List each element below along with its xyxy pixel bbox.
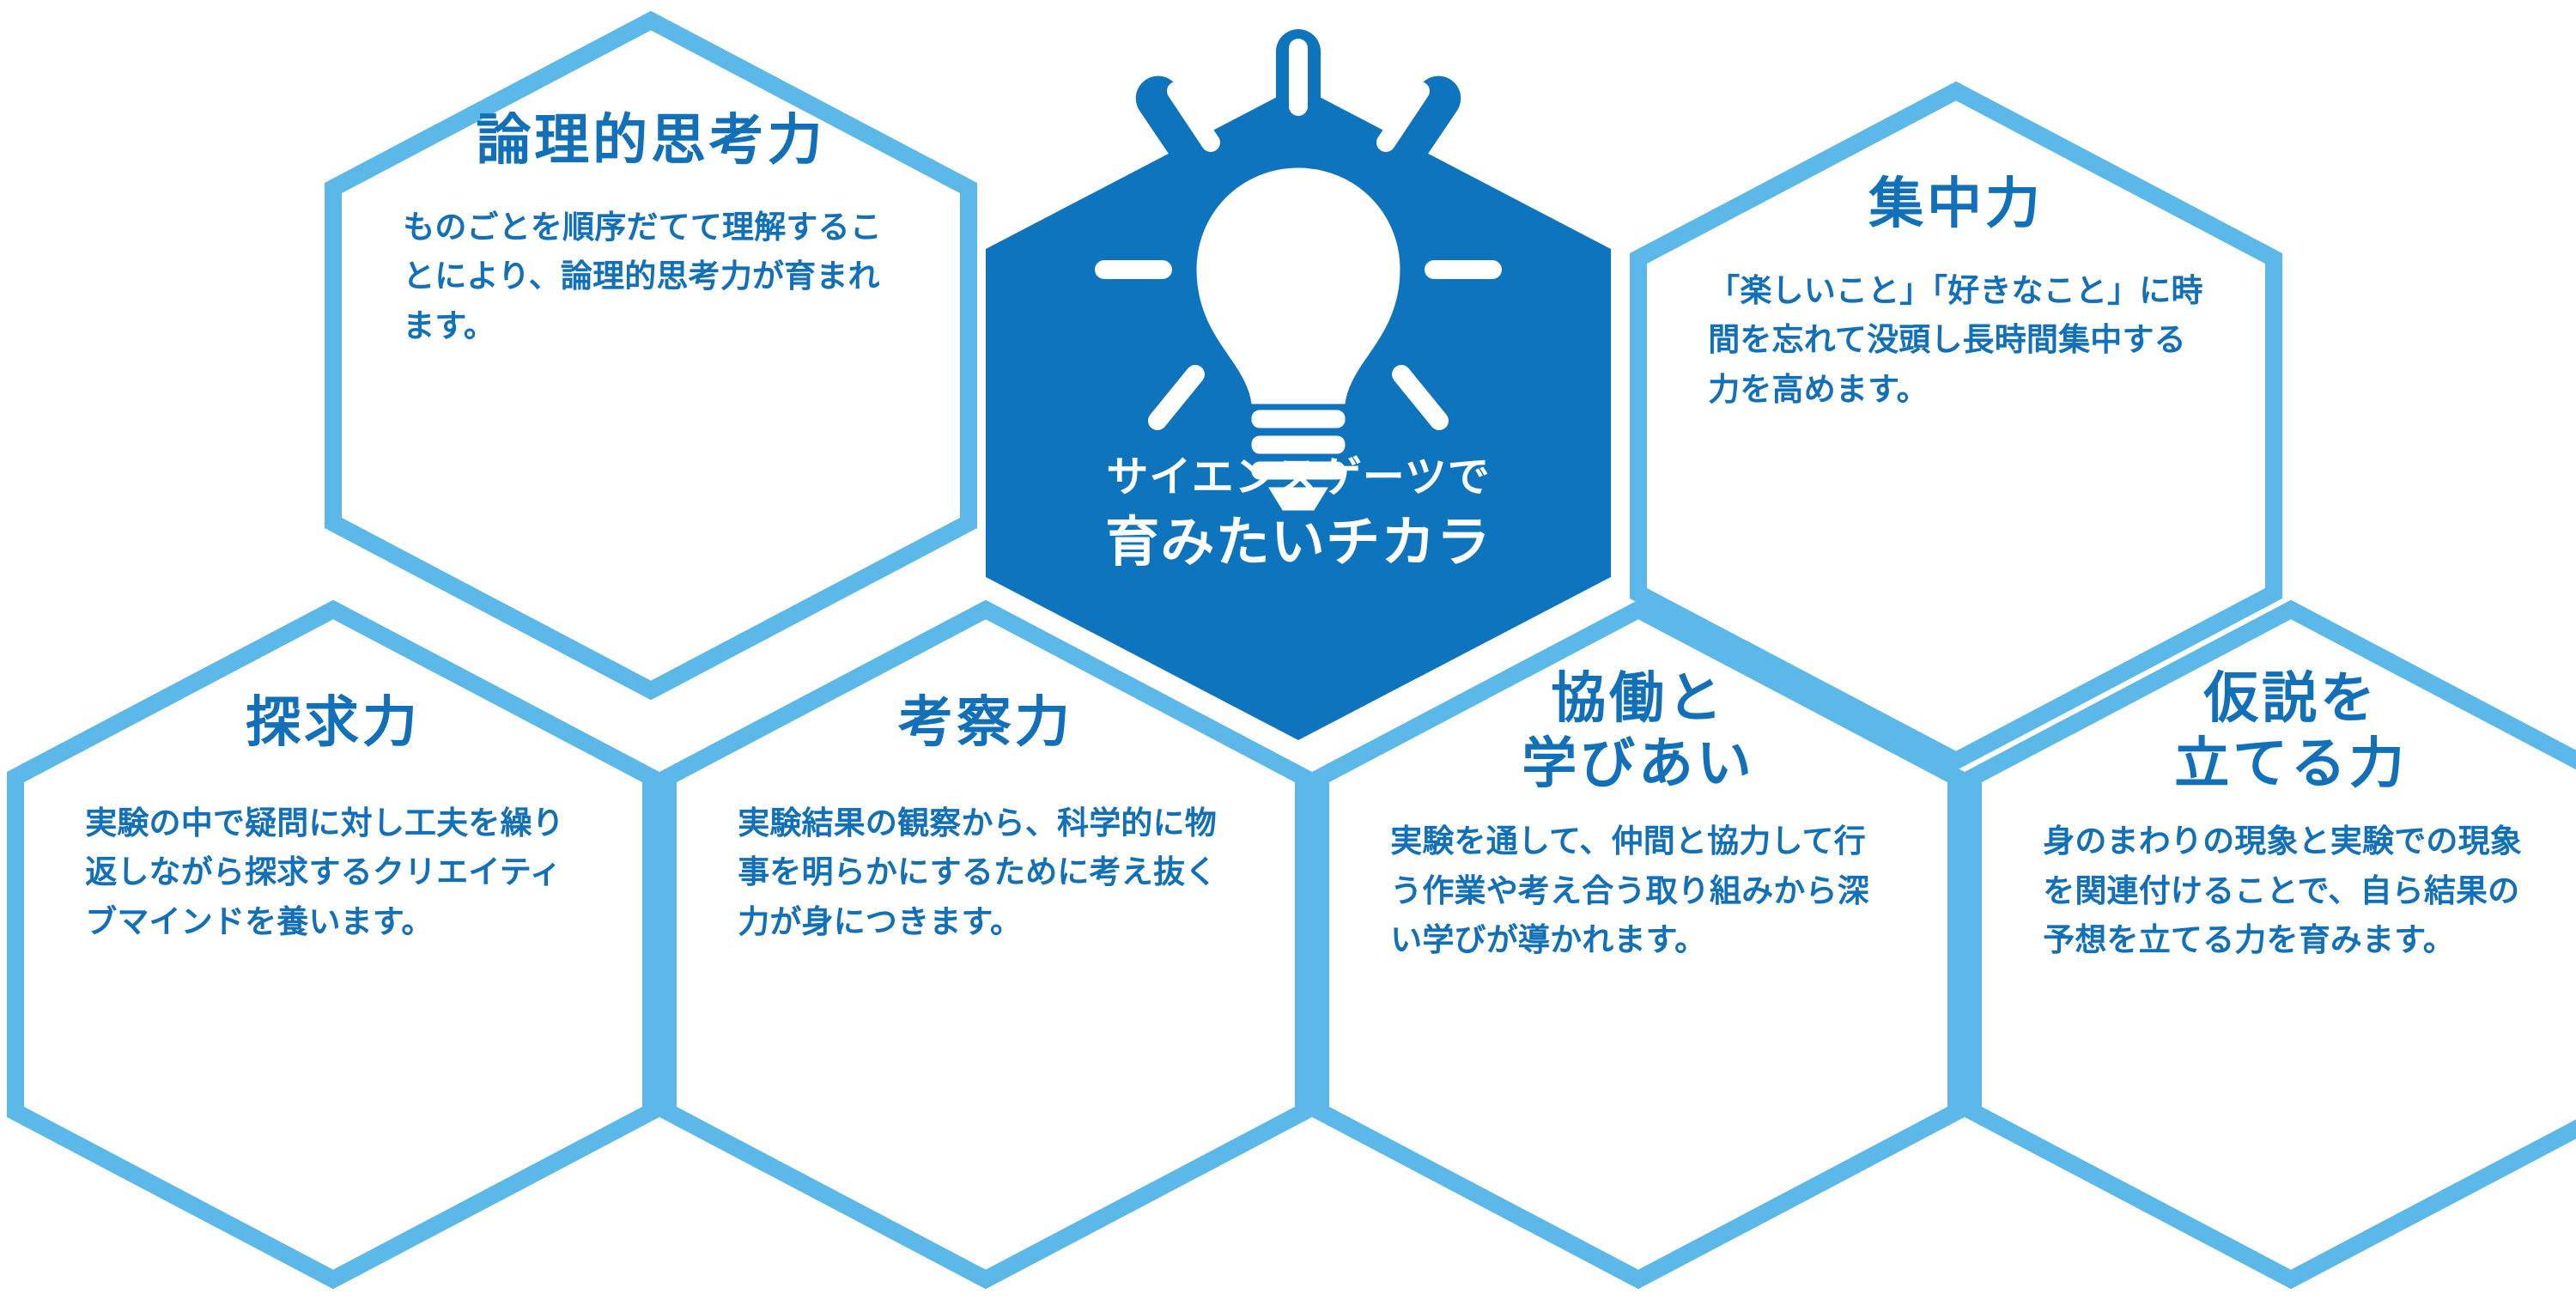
center-hexagon-shape	[986, 86, 1611, 740]
hexagon-card-hypothesis[interactable]: 仮説を 立てる力 身のまわりの現象と実験での現象を関連付けることで、自ら結果の予…	[1965, 601, 2576, 1288]
center-text-block: サイエンスゲーツで 育みたいチカラ	[986, 453, 1611, 576]
hexagon-title: 仮説を 立てる力	[2174, 666, 2407, 796]
hexagon-description: 実験の中で疑問に対し工夫を繰り返しながら探求するクリエイティブマインドを養います…	[85, 799, 581, 947]
hexagon-description: 実験結果の観察から、科学的に物事を明らかにするために考え抜く力が身につきます。	[738, 799, 1234, 947]
center-headline-line1: サイエンスゲーツで	[1106, 453, 1490, 503]
hexagon-card-logical-thinking[interactable]: 論理的思考力 ものごとを順序だてて理解することにより、論理的思考力が育まれます。	[325, 12, 977, 699]
hexagon-text-block: 探求力 実験の中で疑問に対し工夫を繰り返しながら探求するクリエイティブマインドを…	[85, 690, 581, 1199]
hexagon-description: 実験を通して、仲間と協力して行う作業や考え合う取り組みから深い学びが導かれます。	[1390, 817, 1886, 965]
hexagon-text-block: 論理的思考力 ものごとを順序だてて理解することにより、論理的思考力が育まれます。	[403, 108, 899, 617]
hexagon-card-inquiry[interactable]: 探求力 実験の中で疑問に対し工夫を繰り返しながら探求するクリエイティブマインドを…	[7, 601, 659, 1288]
hexagon-description: 「楽しいこと」「好きなこと」に時間を忘れて没頭し長時間集中する力を高めます。	[1708, 266, 2204, 415]
center-headline-line2: 育みたいチカラ	[1105, 510, 1492, 576]
hexagon-text-block: 考察力 実験結果の観察から、科学的に物事を明らかにするために考え抜く力が身につき…	[738, 690, 1234, 1199]
hexagon-title: 集中力	[1868, 172, 2044, 237]
hexagon-title: 探求力	[246, 690, 421, 756]
hexagon-description: ものごとを順序だてて理解することにより、論理的思考力が育まれます。	[403, 203, 899, 351]
infographic-canvas: 論理的思考力 ものごとを順序だてて理解することにより、論理的思考力が育まれます。…	[0, 0, 2576, 1312]
hexagon-card-center-headline[interactable]: サイエンスゲーツで 育みたいチカラ	[986, 86, 1611, 740]
hexagon-title: 論理的思考力	[476, 108, 825, 173]
hexagon-text-block: 協働と 学びあい 実験を通して、仲間と協力して行う作業や考え合う取り組みから深い…	[1390, 666, 1886, 1175]
hexagon-text-block: 仮説を 立てる力 身のまわりの現象と実験での現象を関連付けることで、自ら結果の予…	[2043, 666, 2539, 1175]
hexagon-description: 身のまわりの現象と実験での現象を関連付けることで、自ら結果の予想を立てる力を育み…	[2043, 817, 2539, 965]
